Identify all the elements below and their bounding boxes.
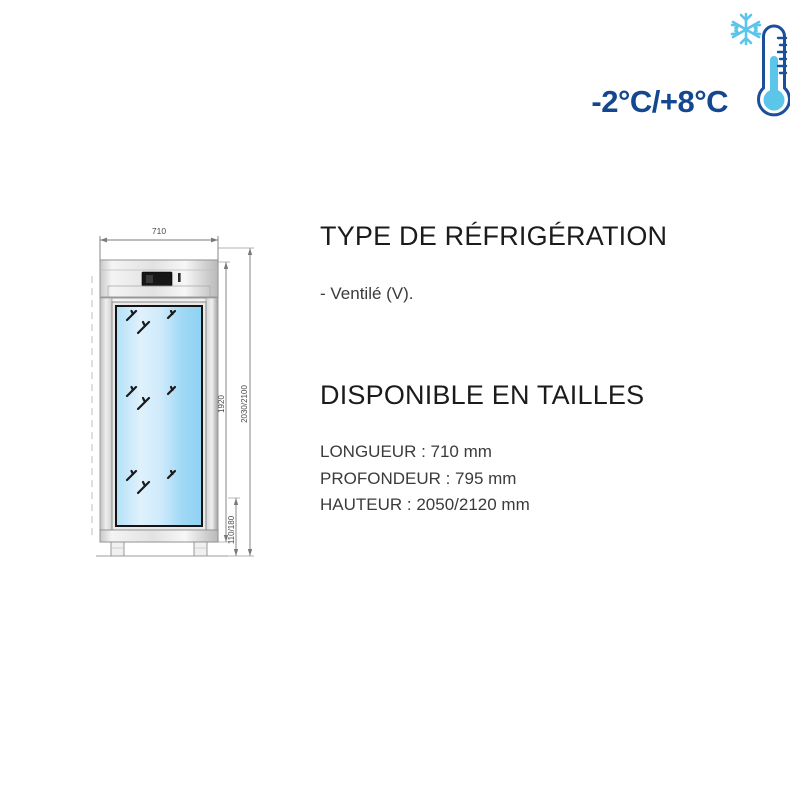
dimension-height-base: 110/180	[227, 498, 240, 556]
leg-left	[111, 542, 124, 556]
glass-door	[116, 306, 202, 526]
dimension-label-base: 110/180	[227, 515, 236, 544]
refrigerated-cabinet-drawing: 710	[78, 218, 288, 578]
dimension-label-overall: 2030/2100	[240, 385, 249, 423]
adjustable-legs	[111, 542, 207, 556]
side-panel-left	[100, 298, 112, 530]
temperature-badge: -2°C/+8°C	[548, 12, 788, 124]
dimension-label-1920: 1920	[217, 395, 226, 413]
specs-text-column: TYPE DE RÉFRIGÉRATION - Ventilé (V). DIS…	[320, 222, 760, 519]
control-panel-digit	[146, 275, 153, 283]
thermometer-column	[770, 56, 778, 100]
dimension-width-710: 710	[100, 226, 218, 260]
size-line-depth: PROFONDEUR : 795 mm	[320, 466, 760, 493]
available-sizes-heading: DISPONIBLE EN TAILLES	[320, 381, 760, 411]
dimension-label-710: 710	[152, 226, 166, 236]
refrigeration-type-body: - Ventilé (V).	[320, 281, 760, 307]
size-line-length: LONGUEUR : 710 mm	[320, 439, 760, 466]
control-panel-indicator	[178, 273, 181, 282]
snowflake-icon	[732, 14, 760, 44]
refrigeration-type-heading: TYPE DE RÉFRIGÉRATION	[320, 222, 760, 252]
temperature-range-label: -2°C/+8°C	[548, 86, 728, 117]
dimension-height-1920: 1920	[217, 262, 230, 542]
size-line-height: HAUTEUR : 2050/2120 mm	[320, 492, 760, 519]
thermometer-icon	[730, 12, 790, 124]
bottom-plinth	[100, 530, 218, 542]
side-panel-right	[206, 298, 218, 530]
leg-right	[194, 542, 207, 556]
available-sizes-list: LONGUEUR : 710 mm PROFONDEUR : 795 mm HA…	[320, 439, 760, 520]
